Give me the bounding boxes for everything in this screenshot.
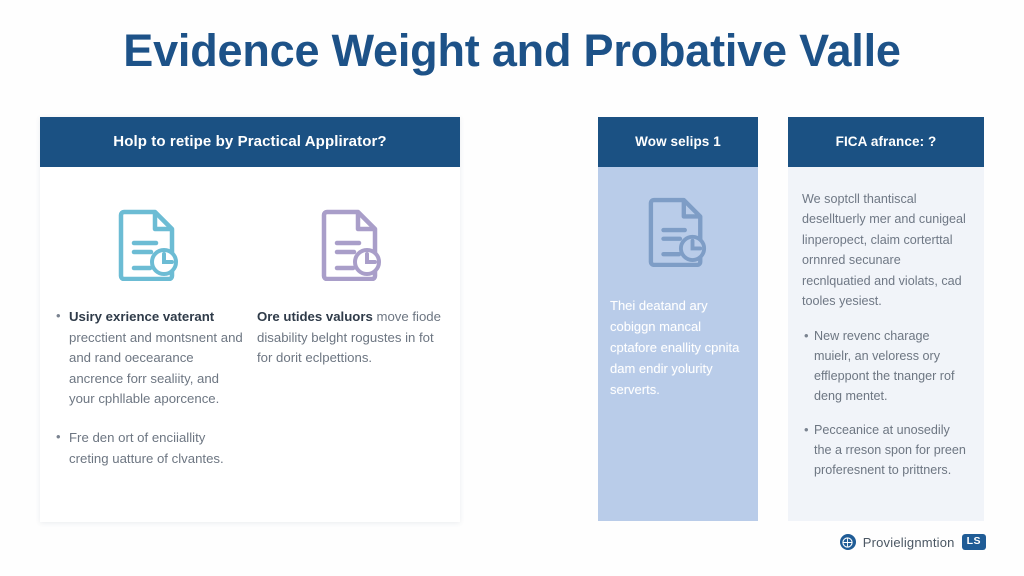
mid-panel: Wow selips 1 Thei deatand ary cobiggn ma… — [598, 117, 758, 521]
left-column-1-bullets: Usiry exrience vaterant precctient and m… — [54, 307, 243, 469]
left-column-1: Usiry exrience vaterant precctient and m… — [54, 193, 243, 487]
bullet-lead: Ore utides valuors — [257, 309, 373, 324]
list-item: Ore utides valuors move fiode disability… — [257, 307, 446, 369]
left-panel: Holp to retipe by Practical Applirator? — [40, 117, 460, 522]
right-panel-bullets: New revenc charage muielr, an veloress o… — [802, 327, 970, 480]
list-item: Pecceanice at unosedily the a rreson spo… — [802, 421, 970, 481]
brand-name: Provielignmtion — [863, 535, 955, 550]
document-clock-icon — [648, 195, 708, 267]
left-column-2: Ore utides valuors move fiode disability… — [257, 193, 446, 487]
brand-badge: LS — [962, 534, 986, 550]
document-clock-icon — [118, 207, 180, 281]
slide-canvas: Evidence Weight and Probative Valle Holp… — [0, 0, 1024, 576]
mid-panel-body: Thei deatand ary cobiggn mancal cptafore… — [598, 167, 758, 400]
list-item: New revenc charage muielr, an veloress o… — [802, 327, 970, 407]
page-title: Evidence Weight and Probative Valle — [0, 26, 1024, 76]
right-panel-header: FICA afrance: ? — [788, 117, 984, 167]
globe-icon-glyph — [842, 537, 853, 548]
right-panel-paragraph: We soptcll thantiscal deselltuerly mer a… — [802, 189, 970, 311]
page-title-container: Evidence Weight and Probative Valle — [0, 26, 1024, 76]
document-clock-icon-purple-slot — [257, 193, 446, 295]
right-panel: FICA afrance: ? We soptcll thantiscal de… — [788, 117, 984, 521]
bullet-text: Pecceanice at unosedily the a rreson spo… — [814, 423, 966, 477]
globe-icon — [840, 534, 856, 550]
mid-panel-text: Thei deatand ary cobiggn mancal cptafore… — [610, 295, 746, 400]
left-column-2-bullets: Ore utides valuors move fiode disability… — [257, 307, 446, 369]
list-item: Fre den ort of enciiallity creting uattu… — [54, 428, 243, 469]
document-clock-icon-blue-slot — [610, 181, 746, 281]
right-panel-body: We soptcll thantiscal deselltuerly mer a… — [788, 167, 984, 481]
document-clock-icon-teal-slot — [54, 193, 243, 295]
footer-brand: Provielignmtion LS — [840, 534, 986, 550]
bullet-text: New revenc charage muielr, an veloress o… — [814, 329, 955, 403]
bullet-text: precctient and montsnent and and rand oe… — [69, 330, 243, 407]
mid-panel-header: Wow selips 1 — [598, 117, 758, 167]
left-panel-header: Holp to retipe by Practical Applirator? — [40, 117, 460, 167]
bullet-text: Fre den ort of enciiallity creting uattu… — [69, 430, 224, 466]
list-item: Usiry exrience vaterant precctient and m… — [54, 307, 243, 410]
left-panel-body: Usiry exrience vaterant precctient and m… — [40, 167, 460, 487]
document-clock-icon — [321, 207, 383, 281]
bullet-lead: Usiry exrience vaterant — [69, 309, 214, 324]
